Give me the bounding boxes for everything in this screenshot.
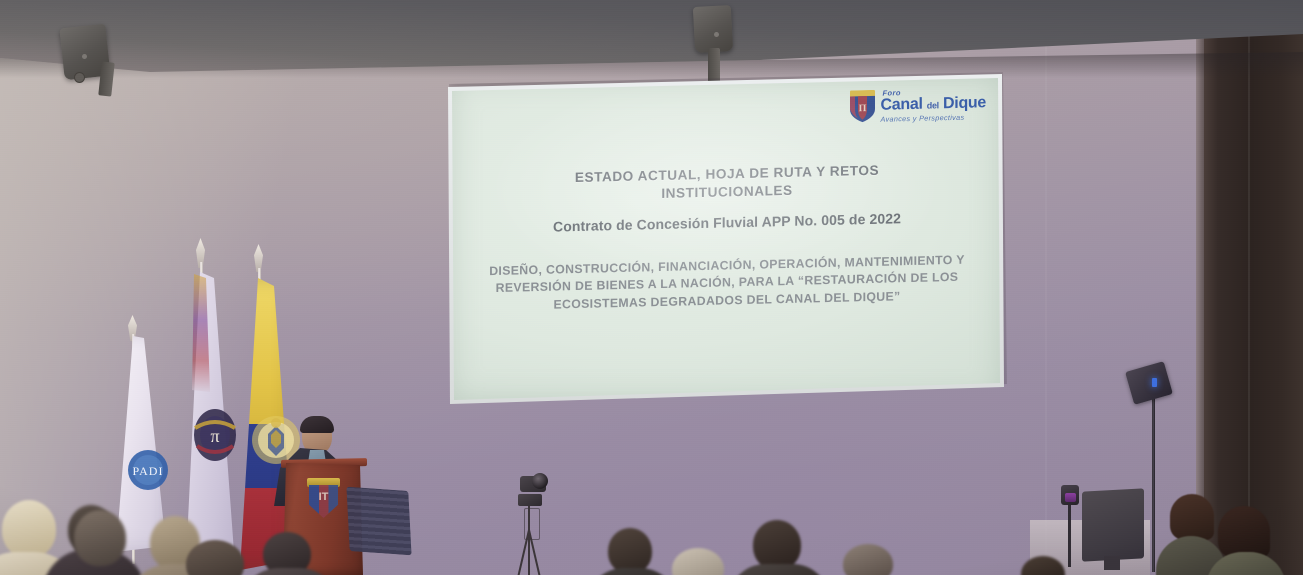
small-camera-pole [1068, 505, 1071, 567]
slide-subtitle: Contrato de Concesión Fluvial APP No. 00… [494, 208, 960, 237]
svg-text:π: π [210, 426, 219, 446]
logo-name-part2: del [927, 100, 939, 110]
head [753, 520, 801, 570]
wall-seam [1045, 0, 1047, 575]
slide-content: Π Foro Canal del Dique Avances y Perspec… [452, 71, 1000, 406]
logo-tagline: Avances y Perspectivas [881, 113, 986, 123]
speaker-hair [300, 416, 334, 433]
speaker-port [714, 32, 719, 37]
stage-chair [346, 487, 411, 556]
mic-stand [1152, 392, 1155, 572]
shield-icon: Π [849, 90, 876, 124]
slide-body-text: DISEÑO, CONSTRUCCIÓN, FINANCIACIÓN, OPER… [482, 252, 972, 316]
camera-cable [524, 508, 540, 540]
head [2, 500, 56, 558]
camera-lens-icon [532, 473, 548, 489]
hair [1218, 506, 1270, 558]
hair [1170, 494, 1214, 540]
podium-crest: IT [307, 478, 340, 518]
logo-name-part1: Canal [881, 95, 923, 113]
tech-monitor [1082, 488, 1144, 561]
speaker-knob [74, 72, 85, 83]
logo-name: Canal del Dique [881, 95, 986, 114]
dark-wall-panel [1204, 0, 1303, 575]
speaker-box [693, 5, 733, 53]
speaker-port [82, 54, 87, 59]
camera-mount [518, 494, 542, 506]
dark-panel-seam [1248, 0, 1250, 575]
small-camera-screen [1065, 493, 1076, 502]
institution-emblem-icon: π [192, 408, 238, 462]
mic-led-indicator [1152, 378, 1157, 387]
svg-text:PADI: PADI [133, 464, 164, 478]
monitor-stand [1104, 556, 1120, 570]
svg-text:Π: Π [858, 103, 866, 114]
slide-title: ESTADO ACTUAL, HOJA DE RUTA Y RETOS INST… [512, 160, 942, 206]
foro-canal-del-dique-logo: Π Foro Canal del Dique Avances y Perspec… [849, 87, 986, 123]
presentation-photo: Π Foro Canal del Dique Avances y Perspec… [0, 0, 1303, 575]
crest-monogram: IT [318, 490, 329, 504]
head [74, 510, 126, 566]
logo-name-part3: Dique [943, 94, 986, 112]
logo-wordmark: Foro Canal del Dique Avances y Perspecti… [881, 87, 986, 122]
ipadi-emblem-icon: PADI [126, 448, 170, 492]
